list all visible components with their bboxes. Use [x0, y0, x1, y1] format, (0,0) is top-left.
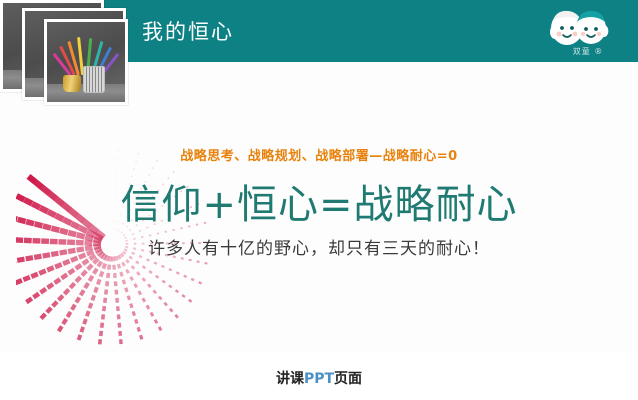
fan-dash	[46, 282, 54, 290]
fan-dash	[46, 265, 54, 272]
fan-dash	[158, 326, 163, 331]
fan-dash	[196, 260, 199, 263]
fan-dash	[69, 282, 76, 289]
fan-dash	[125, 259, 130, 264]
fan-dash	[147, 283, 152, 288]
fan-dash	[175, 289, 179, 293]
fan-dash	[114, 281, 118, 286]
fan-dash	[38, 269, 46, 276]
fan-dash	[139, 230, 142, 232]
fan-dash	[117, 165, 118, 166]
fan-dash	[81, 258, 89, 266]
subline-text: 许多人有十亿的野心，却只有三天的耐心！	[0, 234, 638, 259]
fan-dash	[122, 279, 126, 284]
fan-dash	[75, 276, 82, 283]
fan-dash	[137, 327, 141, 332]
fan-dash	[99, 271, 104, 277]
fan-dash	[142, 265, 146, 269]
fan-dash	[70, 304, 77, 311]
fan-dash	[146, 305, 151, 310]
fan-dash	[154, 261, 158, 264]
fan-dash	[51, 300, 58, 307]
fan-dash	[104, 289, 108, 295]
fan-dash	[155, 275, 159, 279]
fan-dash	[188, 299, 192, 303]
fan-dash	[80, 326, 85, 332]
fan-dash	[133, 283, 138, 288]
fan-dash	[161, 265, 165, 268]
fan-dash	[133, 168, 134, 170]
fan-dash	[79, 289, 86, 296]
fan-dash	[174, 314, 179, 319]
fan-dash	[163, 302, 168, 307]
fan-dash	[164, 231, 167, 233]
fan-dash	[204, 262, 207, 265]
logo-wordmark: 双童 ®	[559, 46, 617, 57]
caption-highlight: PPT	[304, 371, 334, 387]
fan-dash	[53, 277, 61, 285]
fan-dash	[86, 263, 93, 270]
fan-dash	[74, 263, 82, 271]
fan-dash	[92, 268, 99, 275]
fan-dash	[129, 303, 133, 308]
fan-dash	[61, 318, 68, 325]
kicker-text: 战略思考、战略规划、战略部署—战略耐心=0	[0, 145, 638, 164]
fan-dash	[106, 273, 110, 279]
fan-dash	[105, 281, 109, 287]
fan-dash	[162, 280, 166, 284]
fan-dash	[121, 262, 126, 267]
fan-dash	[142, 277, 147, 282]
fan-dash	[88, 302, 93, 308]
fan-dash	[39, 287, 47, 295]
fan-dash	[181, 294, 185, 298]
fan-dash	[114, 290, 118, 295]
gold-cup	[63, 75, 82, 93]
fan-dash	[142, 297, 147, 302]
fan-dash	[131, 265, 136, 270]
fan-dash	[83, 282, 90, 289]
fan-dash	[99, 331, 103, 337]
fan-dash	[60, 273, 68, 281]
fan-dash	[66, 311, 73, 318]
slide-canvas: 我的恒心 双童 ®	[0, 0, 638, 353]
fan-dash	[134, 319, 138, 324]
fan-dash	[119, 272, 123, 277]
fan-dash	[102, 306, 106, 312]
fan-dash	[67, 268, 75, 276]
fan-dash	[124, 287, 128, 292]
headline-text: 信仰+恒心=战略耐心	[0, 172, 638, 230]
fan-dash	[139, 335, 143, 340]
fan-dash	[82, 318, 87, 324]
fan-dash	[96, 279, 101, 285]
shuangtong-logo: 双童 ®	[539, 4, 617, 58]
fan-dash	[183, 275, 187, 278]
fan-dash	[117, 264, 121, 269]
fan-dash	[77, 334, 82, 340]
fan-dash	[112, 265, 116, 270]
straw-cup	[83, 66, 105, 93]
fan-dash	[30, 272, 38, 279]
fan-dash	[168, 284, 172, 288]
fan-dash	[132, 311, 136, 316]
fan-dash	[135, 260, 139, 264]
fan-dash	[80, 270, 87, 277]
fan-dash	[154, 319, 159, 324]
fan-dash	[93, 287, 98, 293]
fan-dash	[107, 264, 111, 270]
fan-dash	[32, 292, 40, 300]
page-title: 我的恒心	[142, 16, 234, 46]
fan-dash	[118, 230, 120, 232]
fan-dash	[22, 275, 30, 282]
fan-dash	[54, 262, 62, 269]
fan-dash	[117, 314, 121, 319]
fan-dash	[176, 271, 180, 274]
caption: 讲课PPT页面	[0, 368, 638, 388]
fan-dash	[153, 290, 158, 295]
fan-dash	[113, 273, 117, 278]
fan-dash	[102, 263, 107, 269]
fan-dash	[57, 294, 64, 301]
fan-dash	[85, 310, 90, 316]
fan-dash	[117, 323, 121, 328]
fan-dash	[101, 314, 105, 320]
fan-dash	[136, 271, 141, 276]
fan-dash	[169, 308, 174, 313]
fan-dash	[168, 268, 172, 271]
photo-image	[47, 22, 125, 102]
fan-dash	[188, 259, 191, 262]
fan-dash	[45, 306, 52, 313]
fan-dash	[125, 269, 130, 274]
fan-dash	[152, 167, 154, 169]
fan-dash	[39, 313, 46, 320]
fan-dash	[98, 339, 102, 345]
fan-dash	[100, 322, 104, 328]
fan-dash	[150, 312, 155, 317]
fan-dash	[62, 259, 70, 266]
fan-dash	[57, 325, 64, 332]
fan-dash	[198, 281, 202, 284]
fan-dash	[127, 295, 131, 300]
fan-dash	[129, 276, 134, 281]
fan-dash	[118, 331, 122, 336]
fan-dash	[103, 298, 107, 304]
photo-front	[44, 19, 128, 105]
fan-dash	[75, 296, 82, 303]
caption-suffix: 页面	[334, 371, 362, 387]
fan-dash	[137, 290, 142, 295]
caption-prefix: 讲课	[276, 371, 304, 387]
fan-dash	[148, 270, 152, 274]
fan-dash	[158, 296, 163, 301]
fan-dash	[119, 339, 123, 344]
fan-dash	[63, 288, 70, 295]
fan-dash	[191, 278, 195, 281]
fan-dash	[25, 297, 33, 305]
fan-dash	[88, 275, 95, 282]
fan-dash	[115, 298, 119, 303]
fan-dash	[116, 306, 120, 311]
fan-dash	[91, 295, 96, 301]
fan-dash	[16, 278, 23, 285]
